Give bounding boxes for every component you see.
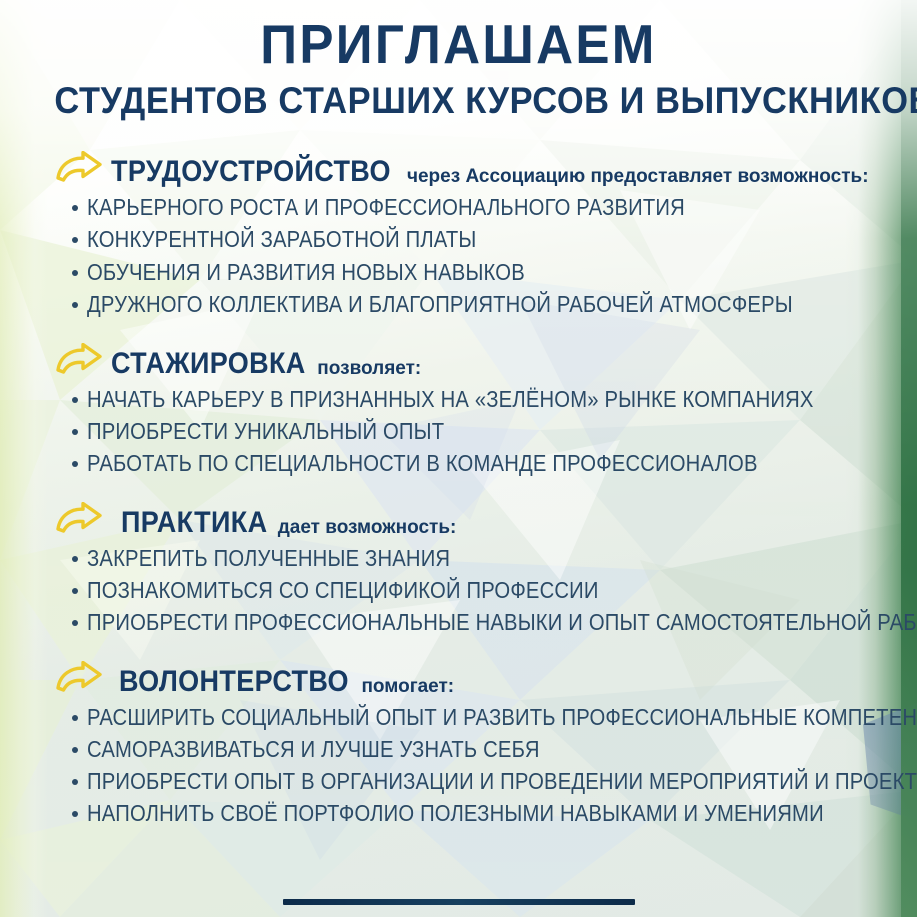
list-item: ОБУЧЕНИЯ И РАЗВИТИЯ НОВЫХ НАВЫКОВ xyxy=(72,258,887,286)
bullet-text: САМОРАЗВИВАТЬСЯ И ЛУЧШЕ УЗНАТЬ СЕБЯ xyxy=(87,735,540,763)
curved-arrow-right-icon xyxy=(56,151,102,185)
list-item: НАПОЛНИТЬ СВОЁ ПОРТФОЛИО ПОЛЕЗНЫМИ НАВЫК… xyxy=(72,799,887,827)
bullet-text: КАРЬЕРНОГО РОСТА И ПРОФЕССИОНАЛЬНОГО РАЗ… xyxy=(87,193,685,221)
bullet-text: ДРУЖНОГО КОЛЛЕКТИВА И БЛАГОПРИЯТНОЙ РАБО… xyxy=(87,290,793,318)
list-item: РАБОТАТЬ ПО СПЕЦИАЛЬНОСТИ В КОМАНДЕ ПРОФ… xyxy=(72,449,887,477)
bullet-text: РАСШИРИТЬ СОЦИАЛЬНЫЙ ОПЫТ И РАЗВИТЬ ПРОФ… xyxy=(87,703,917,731)
bullet-list: ЗАКРЕПИТЬ ПОЛУЧЕННЫЕ ЗНАНИЯ ПОЗНАКОМИТЬС… xyxy=(56,544,887,636)
list-item: ПРИОБРЕСТИ УНИКАЛЬНЫЙ ОПЫТ xyxy=(72,417,887,445)
page-subtitle: СТУДЕНТОВ СТАРШИХ КУРСОВ И ВЫПУСКНИКОВ xyxy=(54,81,862,122)
bullet-dot-icon xyxy=(72,715,78,721)
list-item: ДРУЖНОГО КОЛЛЕКТИВА И БЛАГОПРИЯТНОЙ РАБО… xyxy=(72,290,887,318)
section-practice: ПРАКТИКА дает возможность: ЗАКРЕПИТЬ ПОЛ… xyxy=(56,502,887,636)
section-suffix: дает возможность: xyxy=(278,518,457,537)
bullet-list: РАСШИРИТЬ СОЦИАЛЬНЫЙ ОПЫТ И РАЗВИТЬ ПРОФ… xyxy=(56,703,887,827)
section-heading: ПРАКТИКА дает возможность: xyxy=(56,502,887,538)
curved-arrow-right-icon xyxy=(56,502,102,536)
bullet-text: КОНКУРЕНТНОЙ ЗАРАБОТНОЙ ПЛАТЫ xyxy=(87,225,477,253)
list-item: САМОРАЗВИВАТЬСЯ И ЛУЧШЕ УЗНАТЬ СЕБЯ xyxy=(72,735,887,763)
list-item: НАЧАТЬ КАРЬЕРУ В ПРИЗНАННЫХ НА «ЗЕЛЁНОМ»… xyxy=(72,385,887,413)
list-item: ПРИОБРЕСТИ ОПЫТ В ОРГАНИЗАЦИИ И ПРОВЕДЕН… xyxy=(72,767,887,795)
bullet-text: ПОЗНАКОМИТЬСЯ СО СПЕЦИФИКОЙ ПРОФЕССИИ xyxy=(87,576,599,604)
list-item: РАСШИРИТЬ СОЦИАЛЬНЫЙ ОПЫТ И РАЗВИТЬ ПРОФ… xyxy=(72,703,887,731)
bullet-text: ПРИОБРЕСТИ ПРОФЕССИОНАЛЬНЫЕ НАВЫКИ И ОПЫ… xyxy=(87,608,917,636)
bullet-dot-icon xyxy=(72,205,78,211)
section-keyword: ВОЛОНТЕРСТВО xyxy=(119,667,349,697)
bullet-dot-icon xyxy=(72,461,78,467)
bullet-list: НАЧАТЬ КАРЬЕРУ В ПРИЗНАННЫХ НА «ЗЕЛЁНОМ»… xyxy=(56,385,887,477)
bullet-dot-icon xyxy=(72,237,78,243)
bullet-dot-icon xyxy=(72,811,78,817)
section-keyword: СТАЖИРОВКА xyxy=(111,349,306,379)
curved-arrow-right-icon xyxy=(56,661,102,695)
section-volunteering: ВОЛОНТЕРСТВО помогает: РАСШИРИТЬ СОЦИАЛЬ… xyxy=(56,661,887,827)
section-employment: ТРУДОУСТРОЙСТВО через Ассоциацию предост… xyxy=(56,151,887,317)
section-suffix: позволяет: xyxy=(317,359,421,378)
poster-root: ПРИГЛАШАЕМ СТУДЕНТОВ СТАРШИХ КУРСОВ И ВЫ… xyxy=(0,0,917,917)
section-keyword: ПРАКТИКА xyxy=(121,508,267,538)
curved-arrow-right-icon xyxy=(56,343,102,377)
bullet-dot-icon xyxy=(72,588,78,594)
bullet-text: ОБУЧЕНИЯ И РАЗВИТИЯ НОВЫХ НАВЫКОВ xyxy=(87,258,525,286)
bullet-dot-icon xyxy=(72,429,78,435)
bullet-list: КАРЬЕРНОГО РОСТА И ПРОФЕССИОНАЛЬНОГО РАЗ… xyxy=(56,193,887,317)
bullet-dot-icon xyxy=(72,747,78,753)
page-title: ПРИГЛАШАЕМ xyxy=(54,16,862,74)
section-keyword: ТРУДОУСТРОЙСТВО xyxy=(111,157,391,187)
section-suffix: через Ассоциацию предоставляет возможнос… xyxy=(407,167,869,186)
bullet-text: НАЧАТЬ КАРЬЕРУ В ПРИЗНАННЫХ НА «ЗЕЛЁНОМ»… xyxy=(87,385,814,413)
list-item: ПОЗНАКОМИТЬСЯ СО СПЕЦИФИКОЙ ПРОФЕССИИ xyxy=(72,576,887,604)
section-heading: ТРУДОУСТРОЙСТВО через Ассоциацию предост… xyxy=(56,151,887,187)
bottom-divider xyxy=(283,899,635,905)
sections-list: ТРУДОУСТРОЙСТВО через Ассоциацию предост… xyxy=(0,151,917,827)
list-item: КОНКУРЕНТНОЙ ЗАРАБОТНОЙ ПЛАТЫ xyxy=(72,225,887,253)
bullet-text: ЗАКРЕПИТЬ ПОЛУЧЕННЫЕ ЗНАНИЯ xyxy=(87,544,450,572)
bullet-dot-icon xyxy=(72,270,78,276)
section-heading: ВОЛОНТЕРСТВО помогает: xyxy=(56,661,887,697)
list-item: ПРИОБРЕСТИ ПРОФЕССИОНАЛЬНЫЕ НАВЫКИ И ОПЫ… xyxy=(72,608,887,636)
title-block: ПРИГЛАШАЕМ СТУДЕНТОВ СТАРШИХ КУРСОВ И ВЫ… xyxy=(0,0,917,121)
list-item: ЗАКРЕПИТЬ ПОЛУЧЕННЫЕ ЗНАНИЯ xyxy=(72,544,887,572)
bullet-dot-icon xyxy=(72,620,78,626)
bullet-text: ПРИОБРЕСТИ УНИКАЛЬНЫЙ ОПЫТ xyxy=(87,417,444,445)
bullet-text: РАБОТАТЬ ПО СПЕЦИАЛЬНОСТИ В КОМАНДЕ ПРОФ… xyxy=(87,449,758,477)
section-internship: СТАЖИРОВКА позволяет: НАЧАТЬ КАРЬЕРУ В П… xyxy=(56,343,887,477)
section-suffix: помогает: xyxy=(361,677,454,696)
bullet-dot-icon xyxy=(72,397,78,403)
bullet-text: НАПОЛНИТЬ СВОЁ ПОРТФОЛИО ПОЛЕЗНЫМИ НАВЫК… xyxy=(87,799,824,827)
list-item: КАРЬЕРНОГО РОСТА И ПРОФЕССИОНАЛЬНОГО РАЗ… xyxy=(72,193,887,221)
bullet-dot-icon xyxy=(72,302,78,308)
poster-content: ПРИГЛАШАЕМ СТУДЕНТОВ СТАРШИХ КУРСОВ И ВЫ… xyxy=(0,0,917,917)
bullet-dot-icon xyxy=(72,556,78,562)
bullet-dot-icon xyxy=(72,779,78,785)
section-heading: СТАЖИРОВКА позволяет: xyxy=(56,343,887,379)
bullet-text: ПРИОБРЕСТИ ОПЫТ В ОРГАНИЗАЦИИ И ПРОВЕДЕН… xyxy=(87,767,917,795)
divider-container xyxy=(0,899,917,905)
